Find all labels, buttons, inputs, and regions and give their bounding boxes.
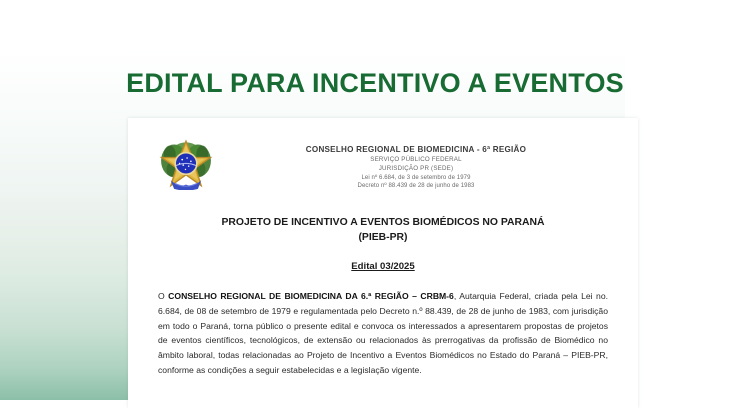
document-paragraph: O CONSELHO REGIONAL DE BIOMEDICINA DA 6.… xyxy=(158,289,608,378)
letterhead-law-reference: Lei nº 6.684, de 3 de setembro de 1979 xyxy=(214,174,618,183)
paragraph-rest: , Autarquia Federal, criada pela Lei no.… xyxy=(158,291,608,375)
background-right-margin xyxy=(625,0,750,400)
letterhead-council-name: CONSELHO REGIONAL DE BIOMEDICINA - 6ª RE… xyxy=(214,145,618,156)
document-subheading: (PIEB-PR) xyxy=(158,230,608,245)
letterhead-federal-service: SERVIÇO PÚBLICO FEDERAL xyxy=(214,156,618,165)
page-title: EDITAL PARA INCENTIVO A EVENTOS xyxy=(0,68,750,99)
document-letterhead: CONSELHO REGIONAL DE BIOMEDICINA - 6ª RE… xyxy=(128,118,638,191)
letterhead-text-block: CONSELHO REGIONAL DE BIOMEDICINA - 6ª RE… xyxy=(214,138,624,191)
brazil-coat-of-arms-icon xyxy=(158,138,214,190)
letterhead-decree-reference: Decreto nº 88.439 de 28 de junho de 1983 xyxy=(214,182,618,191)
paragraph-entity-name: CONSELHO REGIONAL DE BIOMEDICINA DA 6.ª … xyxy=(168,291,454,301)
paragraph-lead: O xyxy=(158,291,168,301)
document-body: PROJETO DE INCENTIVO A EVENTOS BIOMÉDICO… xyxy=(128,215,638,378)
edital-number: Edital 03/2025 xyxy=(158,261,608,272)
document-heading: PROJETO DE INCENTIVO A EVENTOS BIOMÉDICO… xyxy=(158,215,608,230)
letterhead-jurisdiction: JURISDIÇÃO PR (SEDE) xyxy=(214,165,618,174)
document-card: CONSELHO REGIONAL DE BIOMEDICINA - 6ª RE… xyxy=(128,118,638,408)
